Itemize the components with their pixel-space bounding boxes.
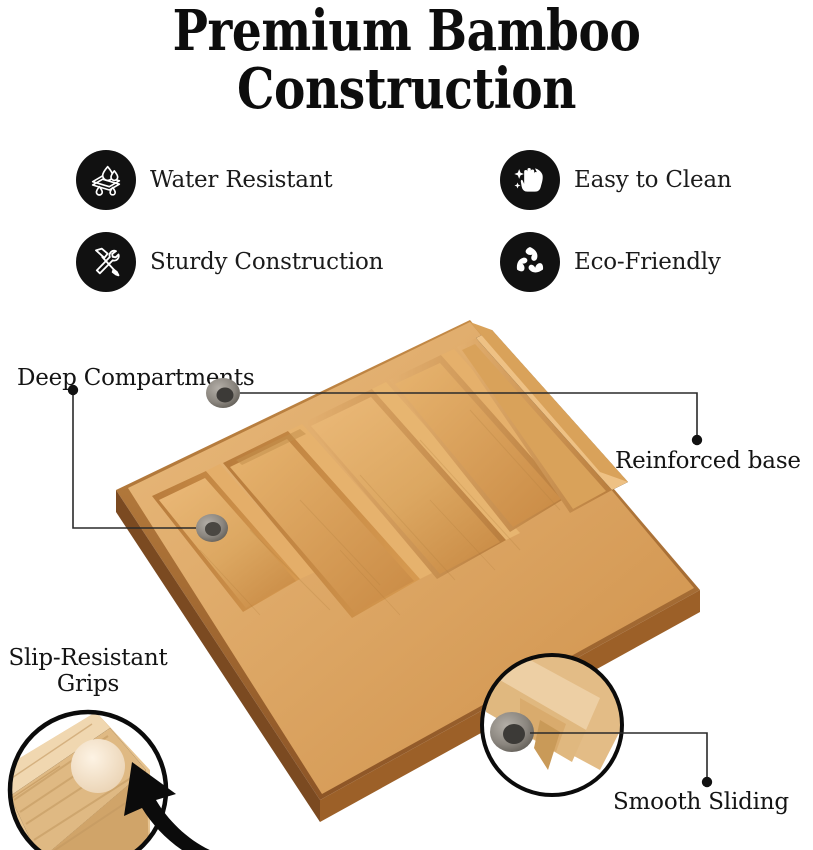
feature-label: Sturdy Construction	[150, 249, 383, 275]
leader-dot-deep-compartments	[68, 385, 78, 395]
page-title-line2: Construction	[65, 62, 748, 117]
feature-water-resistant: Water Resistant	[76, 150, 332, 210]
page-title-line1: Premium Bamboo	[65, 4, 748, 59]
product-illustration	[0, 300, 813, 850]
infographic-canvas: Premium Bamboo Construction Water Resist…	[0, 0, 813, 850]
leader-dot-reinforced-base	[692, 435, 702, 445]
hammer-and-wrench-icon	[76, 232, 136, 292]
grip-dot-top	[206, 378, 240, 408]
grip-dot-middle	[196, 514, 228, 542]
water-drops-on-planks-icon	[76, 150, 136, 210]
feature-label: Eco-Friendly	[574, 249, 721, 275]
feature-easy-to-clean: Easy to Clean	[500, 150, 732, 210]
feature-sturdy-construction: Sturdy Construction	[76, 232, 383, 292]
feature-label: Water Resistant	[150, 167, 332, 193]
slip-resistant-grip-inset	[0, 712, 226, 850]
hand-with-cloth-sparkle-icon	[500, 150, 560, 210]
feature-label: Easy to Clean	[574, 167, 732, 193]
feature-eco-friendly: Eco-Friendly	[500, 232, 721, 292]
recycling-leaves-icon	[500, 232, 560, 292]
leader-dot-smooth-sliding	[702, 777, 712, 787]
